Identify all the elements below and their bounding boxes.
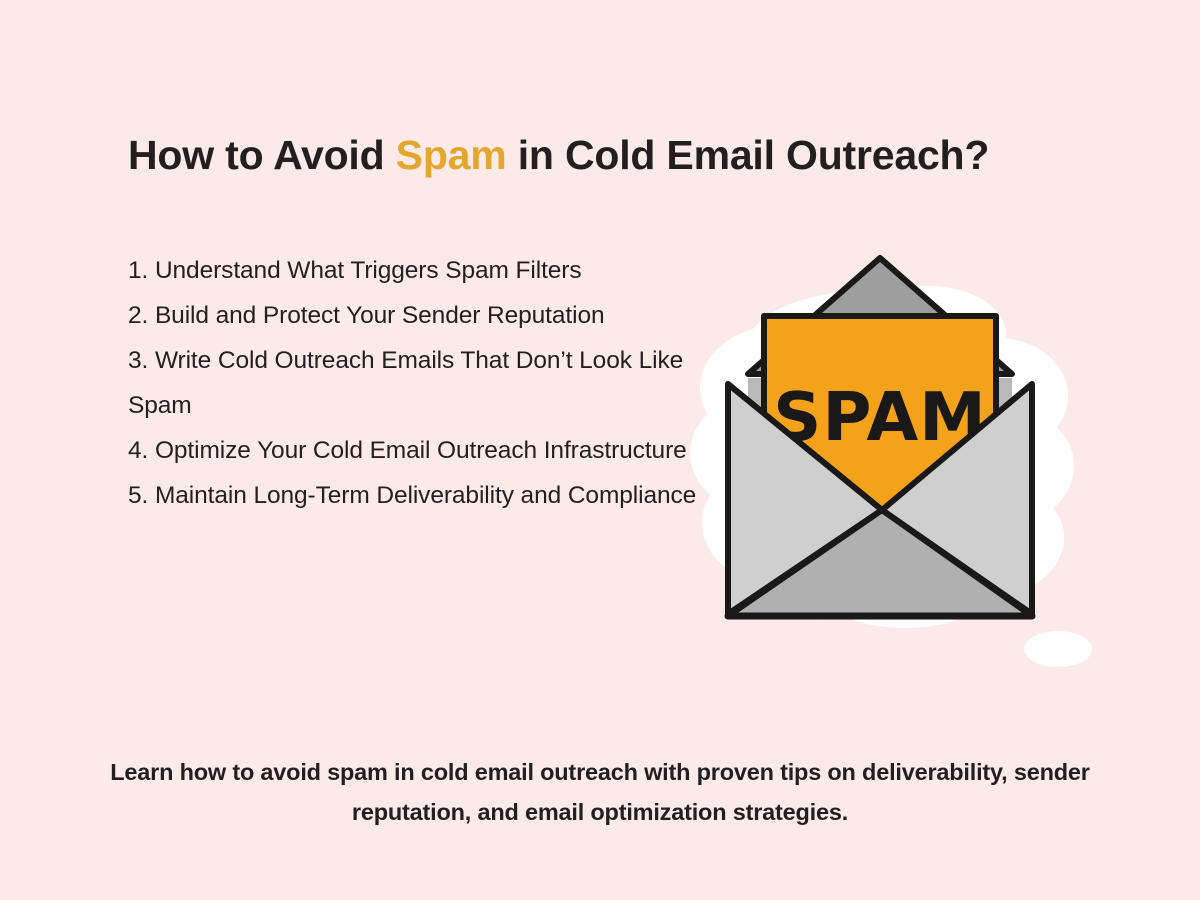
footer-description: Learn how to avoid spam in cold email ou…: [100, 752, 1100, 832]
cloud-accent-dot-icon: [1024, 631, 1092, 667]
page-title-part-after: in Cold Email Outreach?: [507, 132, 990, 178]
envelope-illustration: SPAM: [660, 238, 1100, 678]
list-item: 2. Build and Protect Your Sender Reputat…: [128, 293, 708, 338]
list-item: 1. Understand What Triggers Spam Filters: [128, 248, 708, 293]
page-title-accent-word: Spam: [396, 132, 507, 178]
steps-list: 1. Understand What Triggers Spam Filters…: [128, 248, 708, 518]
page-title: How to Avoid Spam in Cold Email Outreach…: [128, 131, 1088, 179]
list-item: 5. Maintain Long-Term Deliverability and…: [128, 473, 708, 518]
list-item: 4. Optimize Your Cold Email Outreach Inf…: [128, 428, 708, 473]
infographic-canvas: How to Avoid Spam in Cold Email Outreach…: [0, 0, 1200, 900]
list-item: 3. Write Cold Outreach Emails That Don’t…: [128, 338, 708, 428]
page-title-part-before: How to Avoid: [128, 132, 396, 178]
